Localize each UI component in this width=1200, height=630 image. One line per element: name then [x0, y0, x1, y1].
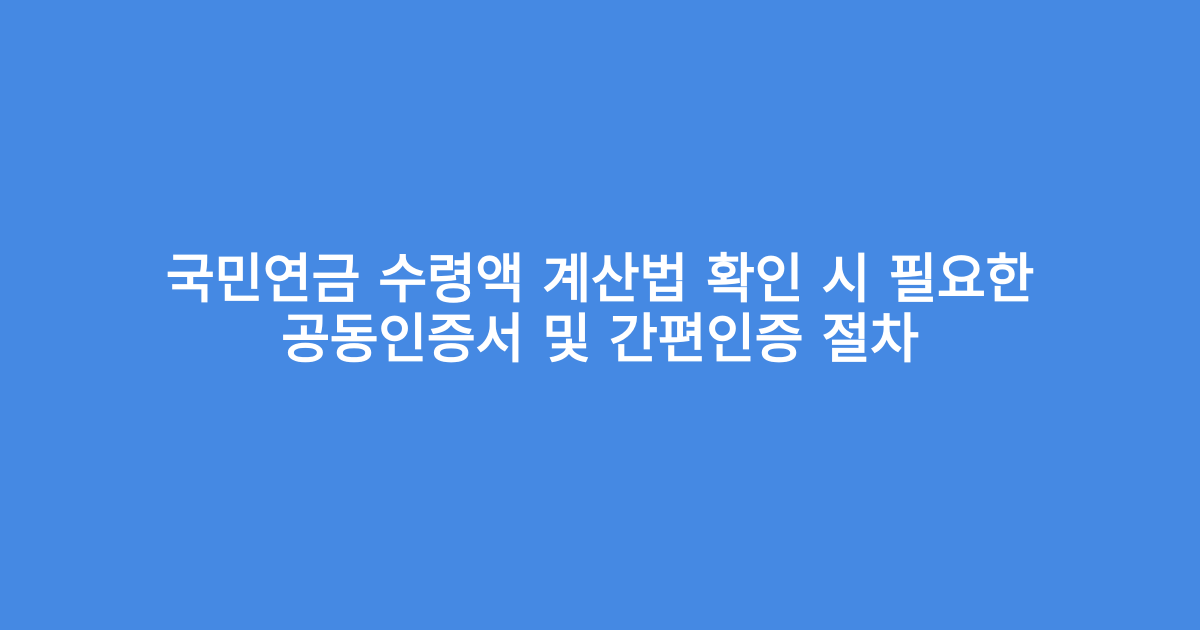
title-line-2: 공동인증서 및 간편인증 절차: [70, 310, 1130, 370]
title-block: 국민연금 수령액 계산법 확인 시 필요한 공동인증서 및 간편인증 절차: [70, 250, 1130, 370]
title-line-1: 국민연금 수령액 계산법 확인 시 필요한: [70, 250, 1130, 310]
thumbnail-card: 국민연금 수령액 계산법 확인 시 필요한 공동인증서 및 간편인증 절차: [0, 0, 1200, 630]
